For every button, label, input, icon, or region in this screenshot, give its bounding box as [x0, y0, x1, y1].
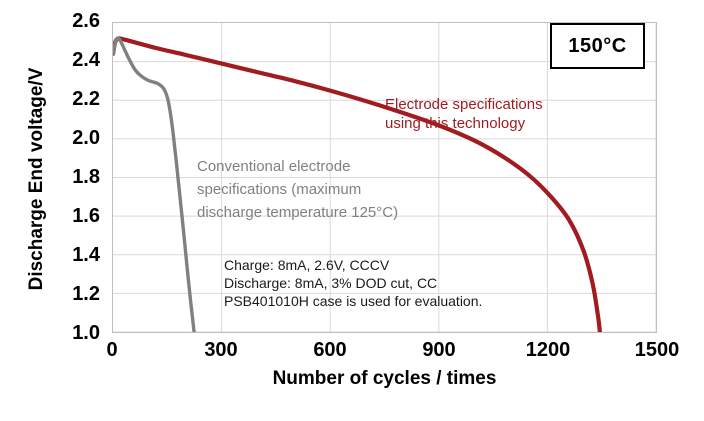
y-tick-2-6: 2.6 [40, 10, 100, 33]
y-tick-1-4: 1.4 [40, 244, 100, 267]
grey-series-annotation: Conventional electrode specifications (m… [197, 155, 398, 224]
x-tick-0: 0 [67, 339, 157, 362]
x-tick-900: 900 [394, 339, 484, 362]
red-series-annotation: Electrode specifications using this tech… [385, 95, 543, 133]
temperature-badge: 150°C [550, 23, 645, 69]
x-tick-1500: 1500 [612, 339, 702, 362]
y-tick-2-4: 2.4 [40, 49, 100, 72]
test-conditions-annotation: Charge: 8mA, 2.6V, CCCV Discharge: 8mA, … [224, 256, 482, 310]
y-tick-2-0: 2.0 [40, 127, 100, 150]
x-tick-1200: 1200 [503, 339, 593, 362]
series-line-grey [113, 38, 194, 332]
y-tick-2-2: 2.2 [40, 88, 100, 111]
x-tick-600: 600 [285, 339, 375, 362]
chart-root: Discharge End voltage/V 2.6 2.4 2.2 2.0 … [0, 0, 704, 421]
x-axis-label: Number of cycles / times [112, 368, 657, 390]
y-tick-1-2: 1.2 [40, 283, 100, 306]
x-tick-300: 300 [176, 339, 266, 362]
y-tick-1-6: 1.6 [40, 205, 100, 228]
y-tick-1-8: 1.8 [40, 166, 100, 189]
